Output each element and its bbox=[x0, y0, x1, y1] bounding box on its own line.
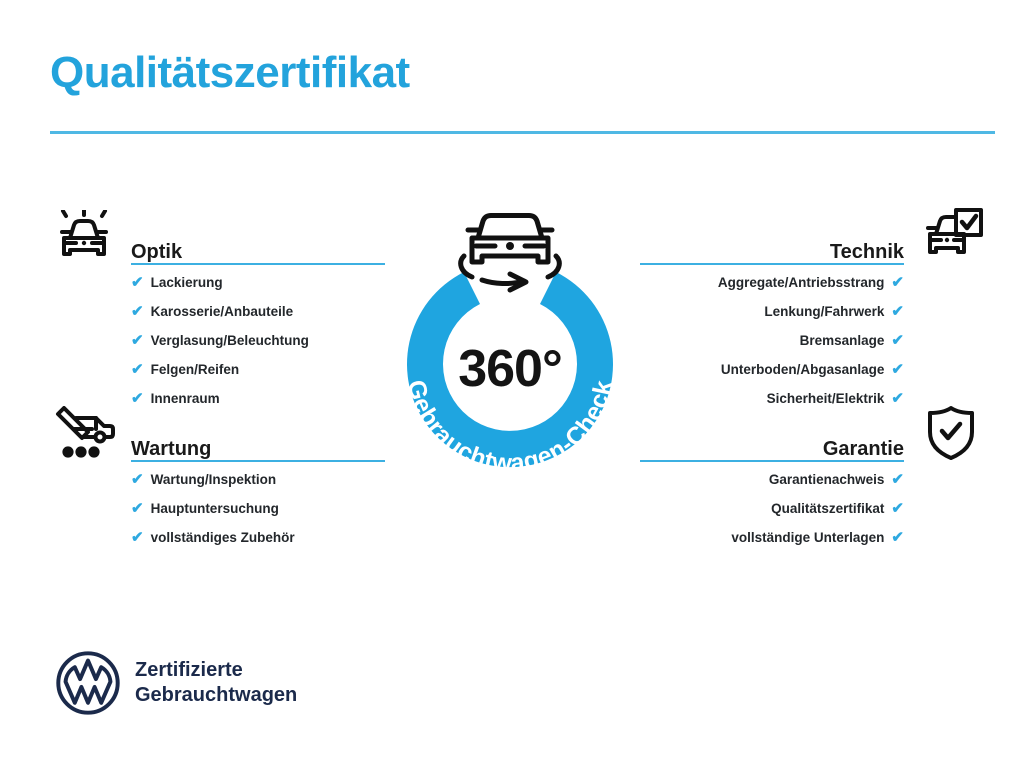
list-item: ✔ Wartung/Inspektion bbox=[131, 465, 385, 494]
list-item-label: Hauptuntersuchung bbox=[151, 502, 279, 516]
checklist-wartung: ✔ Wartung/Inspektion ✔ Hauptuntersuchung… bbox=[45, 465, 385, 552]
check-icon: ✔ bbox=[891, 530, 904, 545]
list-item-label: Lackierung bbox=[151, 276, 223, 290]
list-item: Garantienachweis ✔ bbox=[640, 465, 904, 494]
list-item-label: vollständiges Zubehör bbox=[151, 531, 295, 545]
section-header: Garantie bbox=[640, 403, 990, 465]
check-icon: ✔ bbox=[891, 275, 904, 290]
section-optik: Optik ✔ Lackierung ✔ Karosserie/Anbautei… bbox=[45, 206, 385, 413]
section-divider bbox=[640, 460, 904, 462]
check-icon: ✔ bbox=[891, 501, 904, 516]
vw-logo-line2: Gebrauchtwagen bbox=[135, 683, 297, 708]
badge-number: 360° bbox=[370, 343, 650, 395]
list-item-label: Qualitätszertifikat bbox=[771, 502, 884, 516]
list-item: ✔ Lackierung bbox=[131, 268, 385, 297]
list-item-label: Bremsanlage bbox=[800, 334, 885, 348]
list-item-label: Aggregate/Antriebsstrang bbox=[718, 276, 885, 290]
vw-certified-logo: Zertifizierte Gebrauchtwagen bbox=[55, 650, 297, 716]
list-item-label: Verglasung/Beleuchtung bbox=[151, 334, 309, 348]
section-header: Wartung bbox=[45, 403, 385, 465]
list-item-label: Karosserie/Anbauteile bbox=[151, 305, 294, 319]
section-technik: Technik Aggregate/Antriebsstrang ✔ Lenku… bbox=[640, 206, 990, 413]
check-icon: ✔ bbox=[891, 333, 904, 348]
vw-logo-line1: Zertifizierte bbox=[135, 658, 297, 683]
title-divider bbox=[50, 131, 995, 134]
section-wartung: Wartung ✔ Wartung/Inspektion ✔ Hauptunte… bbox=[45, 403, 385, 552]
vw-logo-text: Zertifizierte Gebrauchtwagen bbox=[135, 658, 297, 708]
section-divider bbox=[131, 263, 385, 265]
badge-360-gebrauchtwagen-check: Gebrauchtwagen-Check 360° bbox=[370, 200, 650, 492]
section-garantie: Garantie Garantienachweis ✔ Qualitätszer… bbox=[640, 403, 990, 552]
list-item-label: Unterboden/Abgasanlage bbox=[721, 363, 885, 377]
list-item-label: Lenkung/Fahrwerk bbox=[764, 305, 884, 319]
list-item: Bremsanlage ✔ bbox=[640, 326, 904, 355]
list-item: ✔ Karosserie/Anbauteile bbox=[131, 297, 385, 326]
list-item: Unterboden/Abgasanlage ✔ bbox=[640, 355, 904, 384]
checklist-technik: Aggregate/Antriebsstrang ✔ Lenkung/Fahrw… bbox=[640, 268, 990, 413]
check-icon: ✔ bbox=[131, 530, 144, 545]
list-item: Lenkung/Fahrwerk ✔ bbox=[640, 297, 904, 326]
car-front-shine-icon bbox=[45, 206, 123, 266]
certificate-page: Qualitätszertifikat Optik bbox=[0, 0, 1024, 768]
check-icon: ✔ bbox=[891, 304, 904, 319]
page-title: Qualitätszertifikat bbox=[50, 48, 410, 98]
car-front-checkbox-icon bbox=[912, 206, 990, 266]
list-item: vollständige Unterlagen ✔ bbox=[640, 523, 904, 552]
list-item: ✔ Verglasung/Beleuchtung bbox=[131, 326, 385, 355]
vw-logo-icon bbox=[55, 650, 121, 716]
check-icon: ✔ bbox=[131, 472, 144, 487]
section-header: Optik bbox=[45, 206, 385, 268]
list-item: ✔ vollständiges Zubehör bbox=[131, 523, 385, 552]
check-icon: ✔ bbox=[131, 275, 144, 290]
list-item: ✔ Hauptuntersuchung bbox=[131, 494, 385, 523]
list-item-label: vollständige Unterlagen bbox=[731, 531, 884, 545]
check-icon: ✔ bbox=[131, 333, 144, 348]
section-title-wrap: Technik bbox=[640, 206, 904, 266]
list-item-label: Garantienachweis bbox=[769, 473, 885, 487]
check-icon: ✔ bbox=[891, 362, 904, 377]
section-title-wrap: Garantie bbox=[640, 403, 904, 463]
check-icon: ✔ bbox=[131, 501, 144, 516]
shield-check-icon bbox=[912, 403, 990, 463]
car-rotate-360-icon bbox=[461, 216, 560, 291]
list-item-label: Felgen/Reifen bbox=[151, 363, 240, 377]
section-title: Technik bbox=[640, 206, 904, 262]
check-icon: ✔ bbox=[131, 304, 144, 319]
checklist-optik: ✔ Lackierung ✔ Karosserie/Anbauteile ✔ V… bbox=[45, 268, 385, 413]
list-item-label: Wartung/Inspektion bbox=[151, 473, 277, 487]
list-item: Qualitätszertifikat ✔ bbox=[640, 494, 904, 523]
section-divider bbox=[640, 263, 904, 265]
checklist-garantie: Garantienachweis ✔ Qualitätszertifikat ✔… bbox=[640, 465, 990, 552]
section-title: Optik bbox=[131, 206, 385, 262]
check-icon: ✔ bbox=[891, 472, 904, 487]
list-item: Aggregate/Antriebsstrang ✔ bbox=[640, 268, 904, 297]
section-title-wrap: Wartung bbox=[131, 403, 385, 463]
section-header: Technik bbox=[640, 206, 990, 268]
section-title: Wartung bbox=[131, 403, 385, 459]
section-divider bbox=[131, 460, 385, 462]
check-icon: ✔ bbox=[131, 362, 144, 377]
car-service-tool-icon bbox=[45, 403, 123, 463]
list-item: ✔ Felgen/Reifen bbox=[131, 355, 385, 384]
section-title: Garantie bbox=[640, 403, 904, 459]
section-title-wrap: Optik bbox=[131, 206, 385, 266]
